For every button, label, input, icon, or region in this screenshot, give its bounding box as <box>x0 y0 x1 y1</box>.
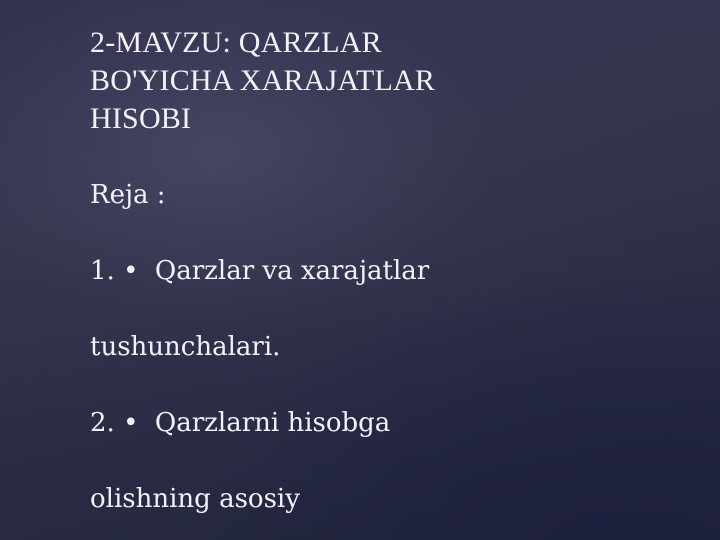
agenda-line: Reja : <box>90 176 690 214</box>
slide-title: 2-MAVZU: QARZLAR BO'YICHA XARAJATLAR HIS… <box>90 24 690 138</box>
agenda-line: 2. • Qarzlarni hisobga <box>90 404 690 442</box>
slide-agenda-text: Reja : 1. • Qarzlar va xarajatlar tushun… <box>90 138 690 540</box>
presentation-slide: 2-MAVZU: QARZLAR BO'YICHA XARAJATLAR HIS… <box>0 0 720 540</box>
slide-content: 2-MAVZU: QARZLAR BO'YICHA XARAJATLAR HIS… <box>90 24 690 540</box>
agenda-line: tushunchalari. <box>90 328 690 366</box>
agenda-line: olishning asosiy <box>90 480 690 518</box>
agenda-line: 1. • Qarzlar va xarajatlar <box>90 252 690 290</box>
